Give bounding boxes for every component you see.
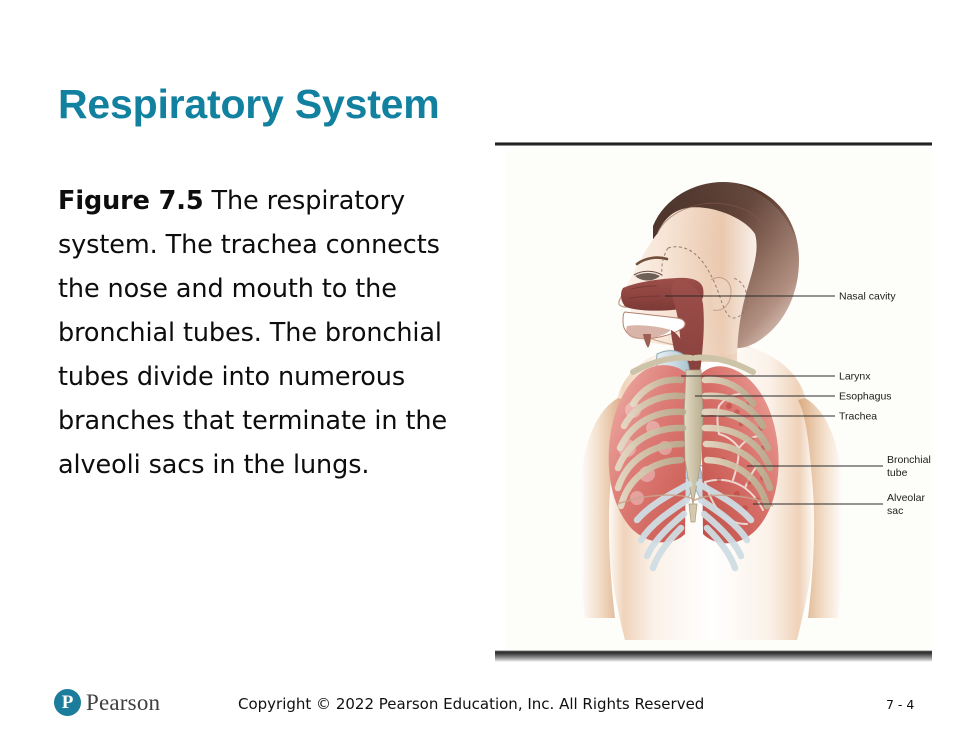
label-alveolar-sac-line1: Alveolar bbox=[887, 492, 925, 504]
slide: Respiratory System Figure 7.5 The respir… bbox=[0, 0, 978, 734]
label-trachea: Trachea bbox=[839, 411, 877, 423]
pearson-p-icon: P bbox=[54, 689, 81, 716]
label-esophagus: Esophagus bbox=[839, 391, 892, 403]
label-larynx: Larynx bbox=[839, 371, 871, 383]
respiratory-anatomy-svg: Nasal cavity Larynx Esophagus Trachea Br… bbox=[505, 148, 932, 650]
page-number: 7 - 4 bbox=[886, 697, 914, 712]
figure-caption-text: The respiratory system. The trachea conn… bbox=[58, 186, 447, 480]
figure-bottom-rule bbox=[495, 650, 932, 662]
figure-caption: Figure 7.5 The respiratory system. The t… bbox=[58, 179, 458, 487]
figure-labels: Nasal cavity Larynx Esophagus Trachea Br… bbox=[839, 291, 931, 518]
page-title: Respiratory System bbox=[58, 78, 440, 130]
label-alveolar-sac-line2: sac bbox=[887, 505, 903, 517]
pearson-logo: P Pearson bbox=[54, 689, 160, 716]
label-bronchial-tube-line1: Bronchial bbox=[887, 454, 931, 466]
label-nasal-cavity: Nasal cavity bbox=[839, 291, 896, 303]
figure-top-rule bbox=[495, 142, 932, 146]
pearson-wordmark: Pearson bbox=[86, 690, 160, 716]
copyright-notice: Copyright © 2022 Pearson Education, Inc.… bbox=[238, 695, 704, 713]
figure-caption-label: Figure 7.5 bbox=[58, 186, 204, 216]
label-bronchial-tube-line2: tube bbox=[887, 467, 908, 479]
pearson-p-glyph: P bbox=[54, 689, 81, 716]
respiratory-system-diagram: Nasal cavity Larynx Esophagus Trachea Br… bbox=[505, 148, 932, 650]
figure-panel: Nasal cavity Larynx Esophagus Trachea Br… bbox=[495, 142, 932, 662]
